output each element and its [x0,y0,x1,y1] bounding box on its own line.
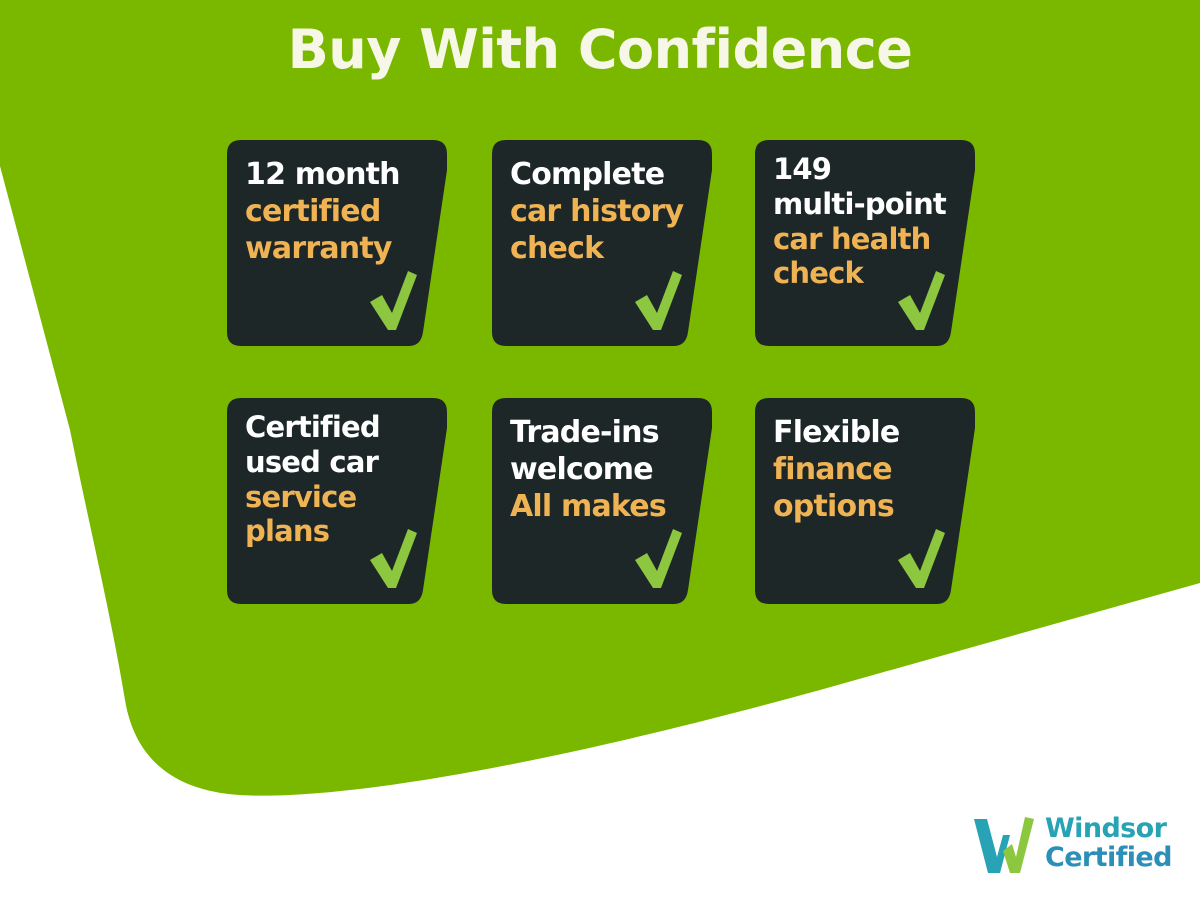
feature-card-row-2: Certifiedused carserviceplans Trade-insw… [227,398,977,648]
card-149-multi-point-car-health-check[interactable]: 149multi-pointcar healthcheck [755,140,975,346]
card-text-line: check [510,230,690,267]
card-trade-ins-welcome-all-makes[interactable]: Trade-inswelcomeAll makes [492,398,712,604]
card-text-line: Flexible [773,414,953,451]
card-text: 12 monthcertifiedwarranty [245,156,425,268]
card-text-line: Certified [245,410,425,445]
card-12-month-certified-warranty[interactable]: 12 monthcertifiedwarranty [227,140,447,346]
brand-line-certified: Certified [1045,844,1172,873]
check-icon [895,528,947,590]
card-text-line: warranty [245,230,425,267]
card-text-line: 149 [773,152,953,187]
check-icon [632,528,684,590]
check-icon [367,528,419,590]
card-text-line: finance [773,451,953,488]
card-text-line: multi-point [773,187,953,222]
check-icon [367,270,419,332]
brand-wordmark: Windsor Certified [1045,815,1172,872]
check-icon [895,270,947,332]
card-text-line: Trade-ins [510,414,690,451]
card-text: Flexiblefinanceoptions [773,414,953,526]
card-text-line: car health [773,222,953,257]
brand-line-windsor: Windsor [1045,813,1166,844]
card-text-line: 12 month [245,156,425,193]
page-title: Buy With Confidence [0,18,1200,81]
card-text-line: used car [245,445,425,480]
card-complete-car-history-check[interactable]: Completecar historycheck [492,140,712,346]
card-flexible-finance-options[interactable]: Flexiblefinanceoptions [755,398,975,604]
check-icon [632,270,684,332]
windsor-w-check-icon [972,813,1036,875]
card-text-line: options [773,488,953,525]
brand-logo[interactable]: Windsor Certified [972,808,1172,880]
card-certified-used-car-service-plans[interactable]: Certifiedused carserviceplans [227,398,447,604]
card-text-line: certified [245,193,425,230]
feature-card-grid: 12 monthcertifiedwarranty Completecar hi… [227,140,977,648]
feature-card-row-1: 12 monthcertifiedwarranty Completecar hi… [227,140,977,398]
card-text-line: welcome [510,451,690,488]
card-text-line: Complete [510,156,690,193]
card-text-line: car history [510,193,690,230]
card-text: Completecar historycheck [510,156,690,268]
card-text-line: All makes [510,488,690,525]
card-text-line: service [245,480,425,515]
card-text: Trade-inswelcomeAll makes [510,414,690,526]
